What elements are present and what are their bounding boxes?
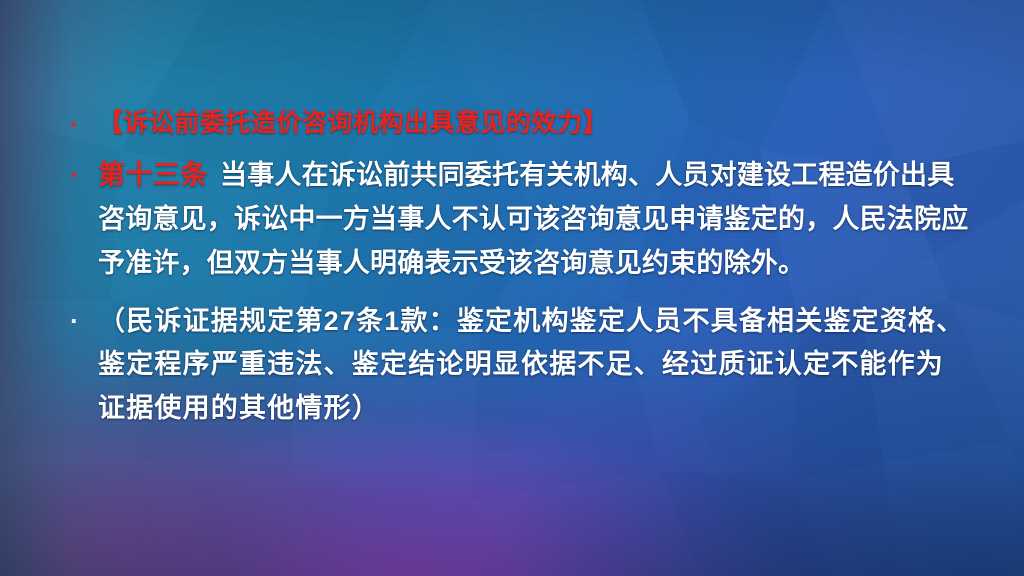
slide-content: · 【诉讼前委托造价咨询机构出具意见的效力】 · 第十三条当事人在诉讼前共同委托… <box>70 104 970 431</box>
presentation-slide: · 【诉讼前委托造价咨询机构出具意见的效力】 · 第十三条当事人在诉讼前共同委托… <box>0 0 1024 576</box>
bullet-note: · （民诉证据规定第27条1款：鉴定机构鉴定人员不具备相关鉴定资格、鉴定程序严重… <box>70 300 970 431</box>
note-text: （民诉证据规定第27条1款：鉴定机构鉴定人员不具备相关鉴定资格、鉴定程序严重违法… <box>98 300 970 431</box>
bullet-article: · 第十三条当事人在诉讼前共同委托有关机构、人员对建设工程造价出具咨询意见，诉讼… <box>70 154 970 285</box>
article-label: 第十三条 <box>98 160 208 190</box>
heading-text: 【诉讼前委托造价咨询机构出具意见的效力】 <box>98 104 970 143</box>
bullet-marker-icon: · <box>70 154 98 198</box>
article-paragraph: 第十三条当事人在诉讼前共同委托有关机构、人员对建设工程造价出具咨询意见，诉讼中一… <box>98 154 970 285</box>
bullet-heading: · 【诉讼前委托造价咨询机构出具意见的效力】 <box>70 104 970 144</box>
bullet-marker-icon: · <box>70 300 98 344</box>
article-body: 当事人在诉讼前共同委托有关机构、人员对建设工程造价出具咨询意见，诉讼中一方当事人… <box>98 160 968 277</box>
bullet-marker-icon: · <box>70 104 98 144</box>
